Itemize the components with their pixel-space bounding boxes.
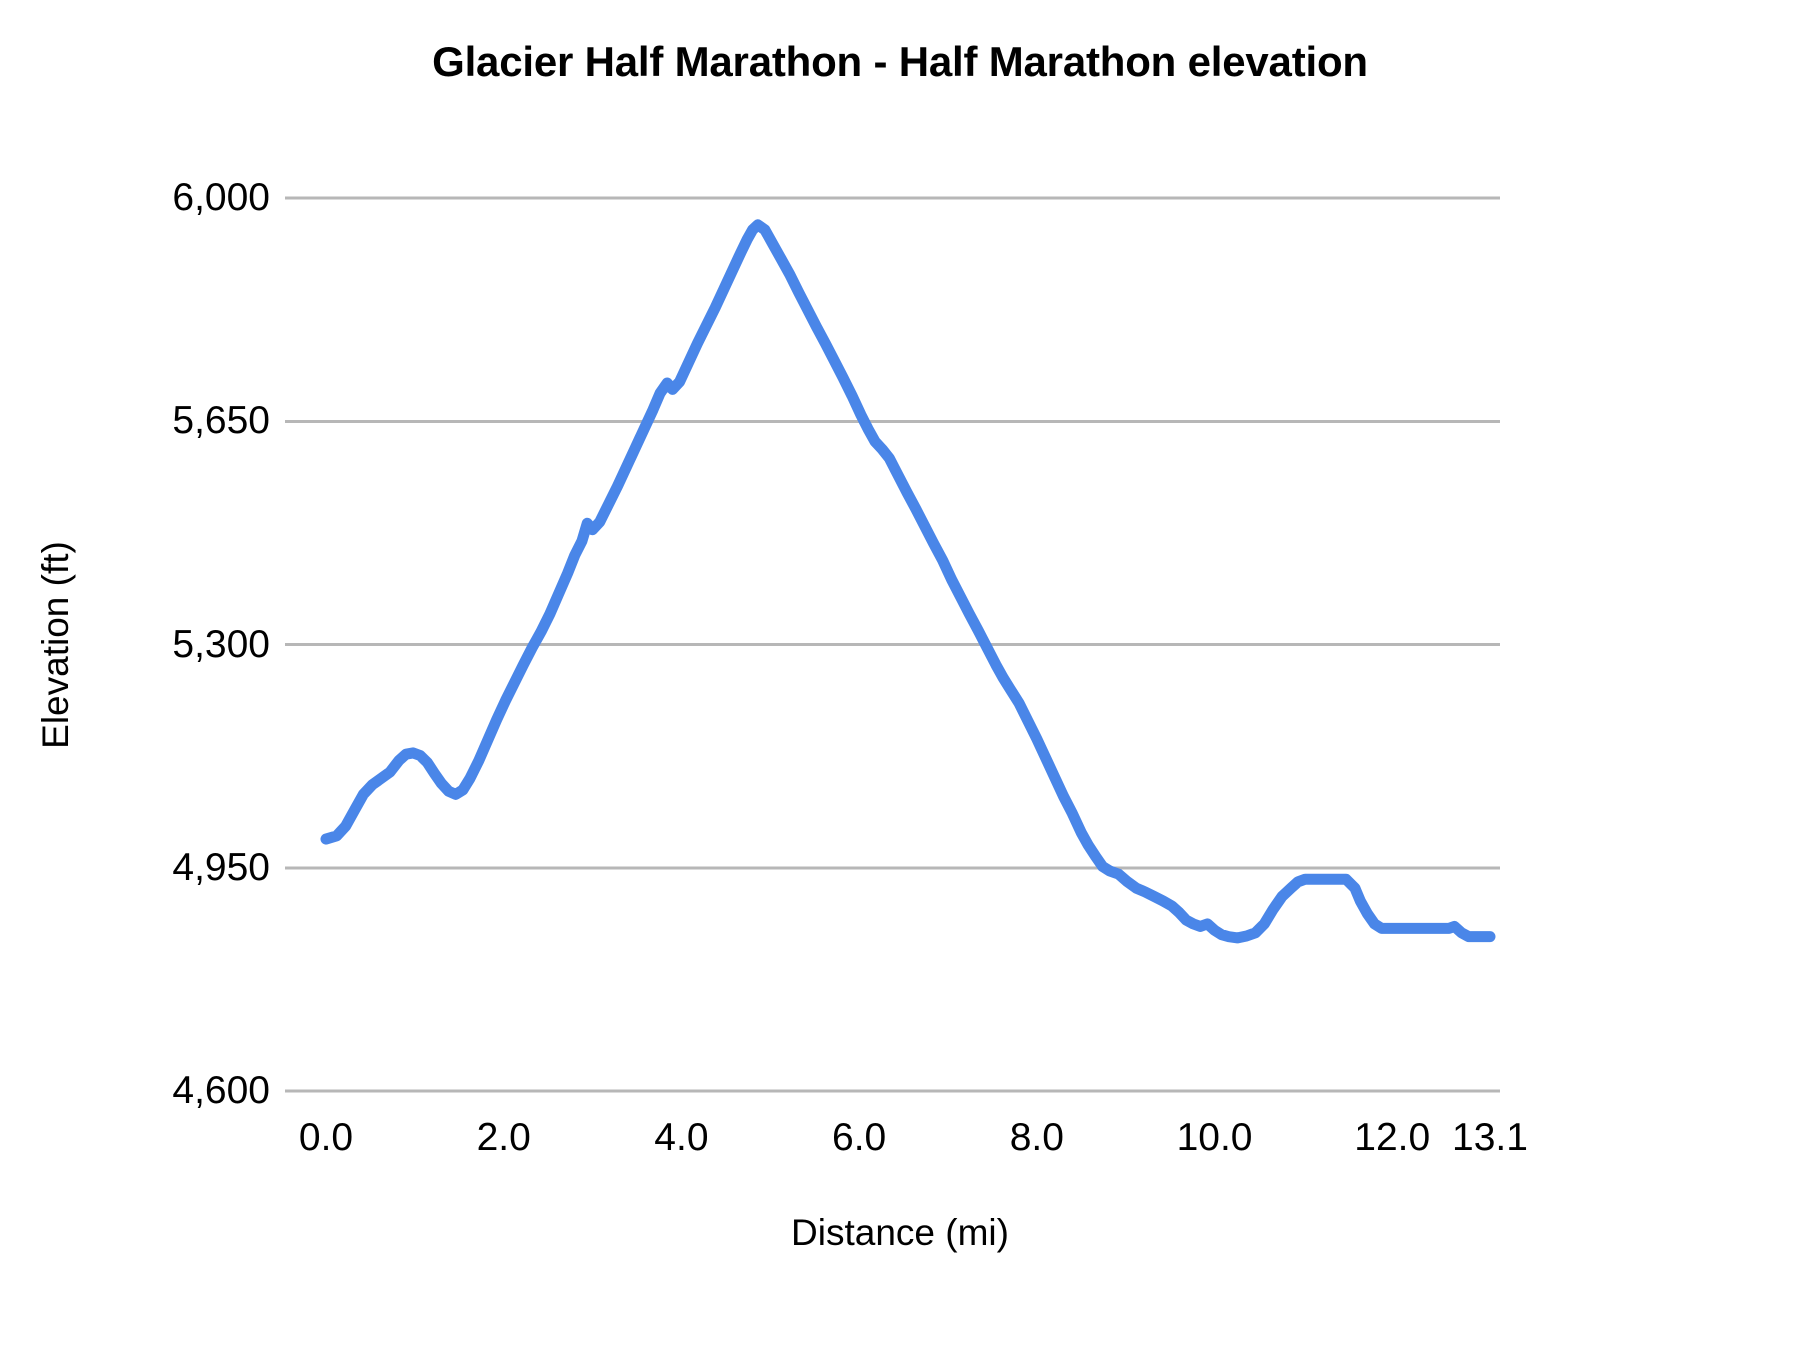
gridlines (285, 198, 1500, 1091)
x-tick-label: 2.0 (477, 1118, 531, 1157)
x-tick-label: 12.0 (1354, 1118, 1430, 1157)
y-axis-title-label: Elevation (ft) (35, 541, 77, 749)
x-tick-label: 8.0 (1010, 1118, 1064, 1157)
plot-area (285, 190, 1500, 1100)
x-tick-label: 10.0 (1177, 1118, 1253, 1157)
x-tick-label: 6.0 (832, 1118, 886, 1157)
y-tick-label: 6,000 (172, 178, 270, 217)
x-tick-label: 13.1 (1452, 1118, 1528, 1157)
x-tick-label: 0.0 (299, 1118, 353, 1157)
y-tick-label: 5,300 (172, 625, 270, 664)
x-tick-label: 4.0 (654, 1118, 708, 1157)
chart-title: Glacier Half Marathon - Half Marathon el… (0, 38, 1800, 86)
chart-container: Glacier Half Marathon - Half Marathon el… (0, 0, 1800, 1350)
y-tick-label: 4,950 (172, 848, 270, 887)
elevation-line-chart (285, 190, 1500, 1100)
y-tick-label: 5,650 (172, 401, 270, 440)
x-axis-title: Distance (mi) (0, 1212, 1800, 1254)
elevation-series-line (326, 225, 1490, 938)
y-axis-title: Elevation (ft) (26, 0, 86, 1350)
y-tick-label: 4,600 (172, 1071, 270, 1110)
